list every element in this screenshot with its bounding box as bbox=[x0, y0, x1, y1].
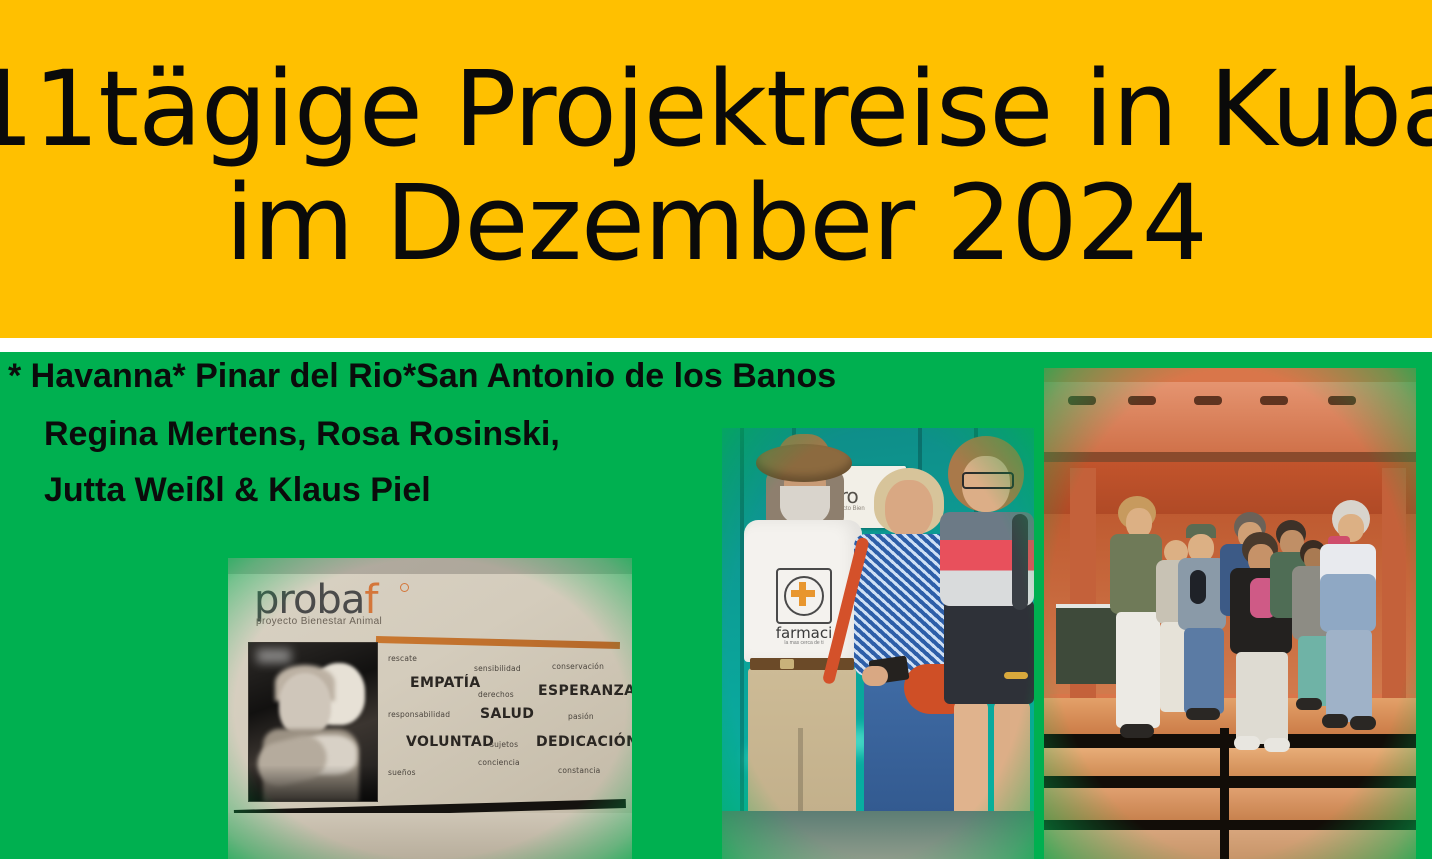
word-cloud-term: sujetos bbox=[490, 740, 518, 749]
poster-word-cloud: rescatesensibilidadconservaciónEMPATÍAde… bbox=[386, 650, 618, 792]
word-cloud-term: VOLUNTAD bbox=[406, 734, 494, 750]
word-cloud-term: pasión bbox=[568, 712, 594, 721]
word-cloud-term: sueños bbox=[388, 768, 416, 777]
title-band: 11tägige Projektreise in Kuba im Dezembe… bbox=[0, 0, 1432, 338]
places-line: * Havanna* Pinar del Rio*San Antonio de … bbox=[8, 359, 1068, 393]
word-cloud-term: EMPATÍA bbox=[410, 675, 481, 691]
word-cloud-term: SALUD bbox=[480, 706, 534, 722]
probaf-poster-photo: probaf proyecto Bienestar Animal rescate… bbox=[228, 558, 632, 859]
word-cloud-term: constancia bbox=[558, 766, 600, 775]
group-steps-photo bbox=[1044, 368, 1416, 859]
word-cloud-term: DEDICACIÓN bbox=[536, 734, 632, 750]
poster-bw-photo bbox=[248, 642, 378, 802]
word-cloud-term: responsabilidad bbox=[388, 710, 450, 719]
photo2-floor bbox=[722, 811, 1034, 859]
probaf-logo-word: probaf bbox=[254, 580, 377, 620]
title-line-1: 11tägige Projektreise in Kuba bbox=[0, 54, 1432, 164]
poster-root: 11tägige Projektreise in Kuba im Dezembe… bbox=[0, 0, 1432, 859]
word-cloud-term: ESPERANZA bbox=[538, 683, 632, 699]
poster-floor bbox=[228, 813, 632, 859]
word-cloud-term: rescate bbox=[388, 654, 417, 663]
registered-mark-icon bbox=[400, 583, 409, 592]
word-cloud-term: conservación bbox=[552, 662, 604, 671]
probaf-logo: probaf proyecto Bienestar Animal bbox=[254, 580, 414, 630]
word-cloud-term: conciencia bbox=[478, 758, 520, 767]
probaf-tagline: proyecto Bienestar Animal bbox=[256, 616, 382, 627]
three-people-photo: pro proyecto Bien farmaci la mas cerca d… bbox=[722, 428, 1034, 859]
body-band: * Havanna* Pinar del Rio*San Antonio de … bbox=[0, 352, 1432, 859]
word-cloud-term: sensibilidad bbox=[474, 664, 521, 673]
word-cloud-term: derechos bbox=[478, 690, 514, 699]
band-separator bbox=[0, 338, 1432, 352]
title-line-2: im Dezember 2024 bbox=[225, 168, 1207, 278]
wall-top-shadow bbox=[228, 558, 632, 574]
